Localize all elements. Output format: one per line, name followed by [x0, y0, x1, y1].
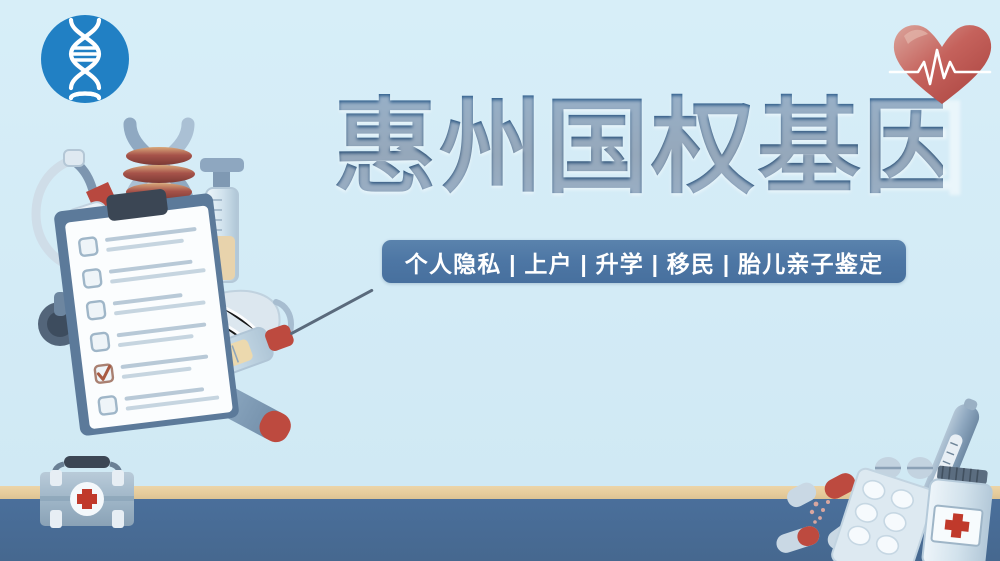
banner-root: 惠州国权基因 个人隐私 | 上户 | 升学 | 移民 | 胎儿亲子鉴定	[0, 0, 1000, 561]
heartbeat-heart-icon	[890, 16, 995, 108]
first-aid-kit-icon	[28, 448, 146, 536]
medicines-group	[768, 416, 1000, 561]
clipboard-checklist-icon	[52, 183, 240, 437]
services-badge-label: 个人隐私 | 上户 | 升学 | 移民 | 胎儿亲子鉴定	[405, 245, 883, 279]
dna-helix-circle-icon[interactable]	[40, 14, 130, 104]
page-title: 惠州国权基因	[333, 93, 943, 205]
medical-supplies-cluster	[10, 96, 390, 441]
services-badge: 个人隐私 | 上户 | 升学 | 移民 | 胎儿亲子鉴定	[382, 240, 906, 283]
